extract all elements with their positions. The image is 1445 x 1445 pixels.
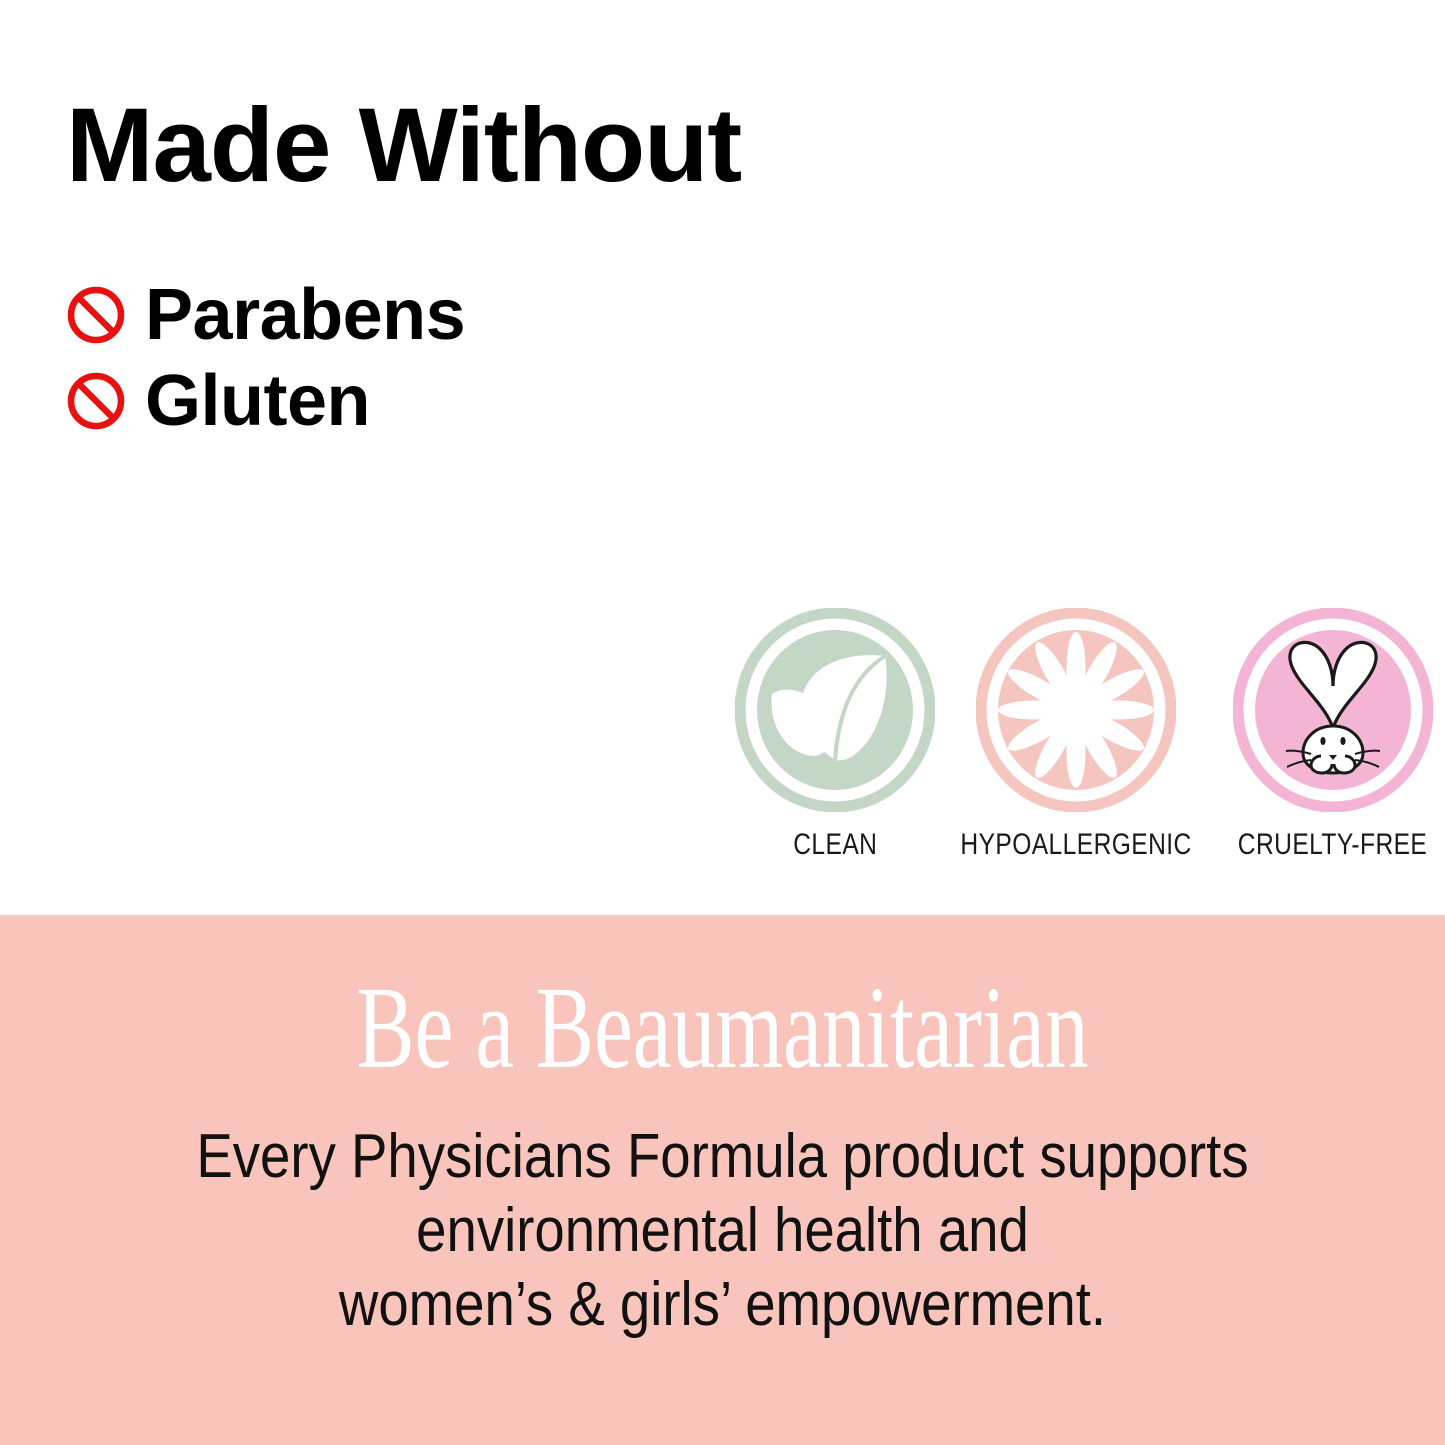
body-line: environmental health and [87,1194,1359,1268]
badge-cruelty-free: CRUELTY-FREE [1217,608,1445,862]
flower-icon [976,608,1176,812]
beaumanitarian-body: Every Physicians Formula product support… [87,1120,1359,1342]
certification-badge-row: CLEAN [735,608,1445,862]
badge-label: CLEAN [793,828,877,862]
body-line: women’s & girls’ empowerment. [87,1268,1359,1342]
body-line: Every Physicians Formula product support… [87,1120,1359,1194]
exclusion-label: Parabens [145,279,465,351]
no-entry-icon [66,285,126,345]
badge-clean: CLEAN [735,608,935,862]
list-item: Gluten [66,358,766,444]
badge-label: CRUELTY-FREE [1238,828,1427,862]
beaumanitarian-section: Be a Beaumanitarian Every Physicians For… [0,915,1445,1445]
no-entry-icon [66,371,126,431]
badge-label: HYPOALLERGENIC [960,828,1191,862]
exclusion-label: Gluten [145,365,370,437]
beaumanitarian-headline: Be a Beaumanitarian [188,969,1257,1087]
made-without-section: Made Without Parabens G [0,0,1445,915]
bunny-icon [1233,608,1433,812]
badge-hypoallergenic: HYPOALLERGENIC [935,608,1217,862]
exclusion-list: Parabens Gluten [66,272,766,444]
product-callout-page: Made Without Parabens G [0,0,1445,1445]
page-title: Made Without [66,93,741,198]
leaf-icon [735,608,935,812]
list-item: Parabens [66,272,766,358]
